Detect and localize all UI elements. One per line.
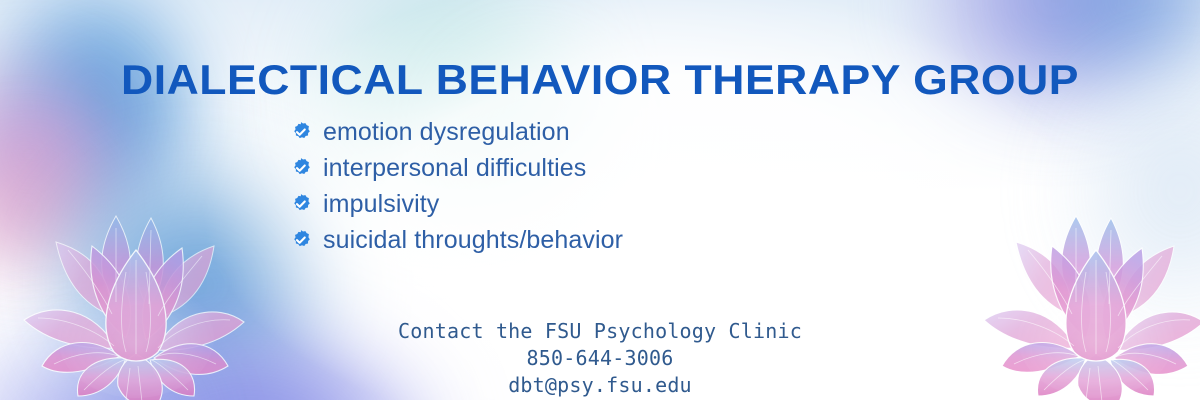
check-badge-icon	[290, 229, 312, 251]
list-item-label: impulsivity	[323, 192, 439, 217]
list-item-label: emotion dysregulation	[323, 120, 570, 145]
list-item-label: interpersonal difficulties	[323, 156, 586, 181]
contact-email-line[interactable]: dbt@psy.fsu.edu	[0, 372, 1200, 399]
check-badge-icon	[290, 121, 312, 143]
dbt-group-banner: DIALECTICAL BEHAVIOR THERAPY GROUP emoti…	[0, 0, 1200, 400]
list-item: emotion dysregulation	[290, 117, 623, 147]
background-blob-top-left-pink	[0, 120, 120, 300]
list-item: suicidal throughts/behavior	[290, 225, 623, 255]
list-item-label: suicidal throughts/behavior	[323, 228, 623, 253]
check-badge-icon	[290, 193, 312, 215]
check-badge-icon	[290, 157, 312, 179]
page-title: DIALECTICAL BEHAVIOR THERAPY GROUP	[0, 56, 1200, 104]
list-item: impulsivity	[290, 189, 623, 219]
list-item: interpersonal difficulties	[290, 153, 623, 183]
contact-clinic-line: Contact the FSU Psychology Clinic	[0, 318, 1200, 345]
contact-block: Contact the FSU Psychology Clinic 850-64…	[0, 318, 1200, 399]
symptom-list: emotion dysregulation interpersonal diff…	[290, 117, 623, 255]
background-blob-top-left-blue	[0, 0, 220, 260]
contact-phone-line[interactable]: 850-644-3006	[0, 345, 1200, 372]
